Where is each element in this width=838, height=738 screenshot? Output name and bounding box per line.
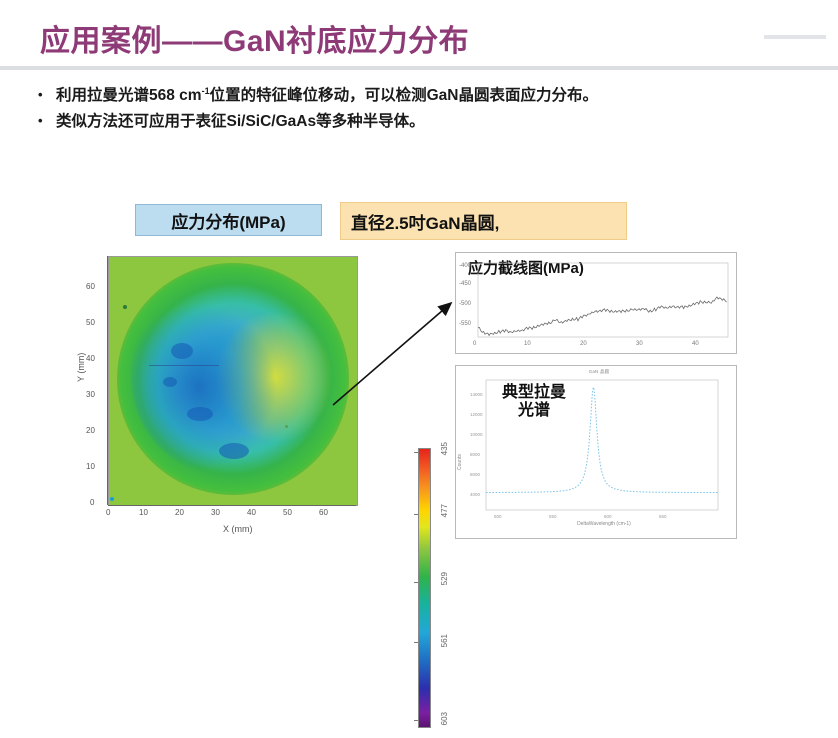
heatmap-crosshair (149, 365, 219, 366)
bullet-text: 类似方法还可应用于表征Si/SiC/GaAs等多种半导体。 (56, 110, 425, 134)
slide-canvas: 应用案例——GaN衬底应力分布 • 利用拉曼光谱568 cm-1位置的特征峰位移… (0, 0, 838, 549)
heatmap-stray-point (123, 305, 127, 309)
header-rule-short (764, 35, 826, 39)
x-tick-40: 40 (247, 508, 256, 517)
colorbar-gradient (418, 448, 431, 728)
x-tick-0: 0 (106, 508, 110, 517)
page-title: 应用案例——GaN衬底应力分布 (40, 16, 469, 60)
wafer-speck (163, 377, 177, 387)
x-tick-20: 20 (175, 508, 184, 517)
cross-section-plot (456, 253, 736, 353)
heatmap-x-axis-label: X (mm) (223, 524, 253, 534)
heatmap-y-axis-label: Y (mm) (76, 353, 86, 382)
stress-heatmap-panel: Y (mm) X (mm) 0 10 20 30 (78, 252, 428, 542)
wafer-diameter-label: 直径2.5吋GaN晶圆, (340, 202, 627, 240)
y-tick-50: 50 (86, 318, 95, 327)
bullet-text-pre: 利用拉曼光谱568 cm (56, 87, 202, 104)
stress-cross-section-chart: 应力截线图(MPa) -400 -450 -500 -550 0 10 20 3… (455, 252, 737, 354)
y-tick-10: 10 (86, 462, 95, 471)
colorbar-tick-435: 435 (440, 442, 449, 468)
wafer-speck (171, 343, 193, 359)
bullet-text-post: 位置的特征峰位移动，可以检测GaN晶圆表面应力分布。 (210, 87, 598, 104)
header-rule (0, 66, 838, 70)
typical-raman-spectrum-chart: GaN 晶圆 典型拉曼 光谱 Counts DeltaWavelength (c… (455, 365, 737, 539)
wafer-speck (219, 443, 249, 459)
x-tick-50: 50 (283, 508, 292, 517)
x-tick-30: 30 (211, 508, 220, 517)
bullet-text-pre: 类似方法还可应用于表征Si/SiC/GaAs等多种半导体。 (56, 113, 425, 130)
heatmap-stray-point (110, 497, 114, 501)
list-item: • 利用拉曼光谱568 cm-1位置的特征峰位移动，可以检测GaN晶圆表面应力分… (38, 84, 828, 108)
heatmap-stray-point (285, 425, 288, 428)
bullet-list: • 利用拉曼光谱568 cm-1位置的特征峰位移动，可以检测GaN晶圆表面应力分… (38, 84, 828, 136)
bullet-marker: • (38, 110, 56, 131)
y-tick-0: 0 (90, 498, 94, 507)
list-item: • 类似方法还可应用于表征Si/SiC/GaAs等多种半导体。 (38, 110, 828, 134)
bullet-text-sup: -1 (202, 86, 210, 96)
colorbar-tick-529: 529 (440, 572, 449, 598)
colorbar-tick-603: 603 (440, 712, 449, 738)
stress-distribution-label: 应力分布(MPa) (135, 204, 322, 236)
figure-area: 应力分布(MPa) 直径2.5吋GaN晶圆, Y (mm) X (mm) (0, 190, 838, 549)
colorbar-tick-561: 561 (440, 634, 449, 660)
bullet-marker: • (38, 84, 56, 105)
y-tick-40: 40 (86, 354, 95, 363)
y-tick-20: 20 (86, 426, 95, 435)
y-tick-30: 30 (86, 390, 95, 399)
heatmap-plot (108, 256, 358, 506)
colorbar-tick-477: 477 (440, 504, 449, 530)
x-tick-60: 60 (319, 508, 328, 517)
bullet-text: 利用拉曼光谱568 cm-1位置的特征峰位移动，可以检测GaN晶圆表面应力分布。 (56, 84, 598, 108)
raman-plot (456, 366, 736, 538)
x-tick-10: 10 (139, 508, 148, 517)
colorbar: 435 477 529 561 603 (418, 442, 448, 732)
y-tick-60: 60 (86, 282, 95, 291)
wafer-speck (187, 407, 213, 421)
